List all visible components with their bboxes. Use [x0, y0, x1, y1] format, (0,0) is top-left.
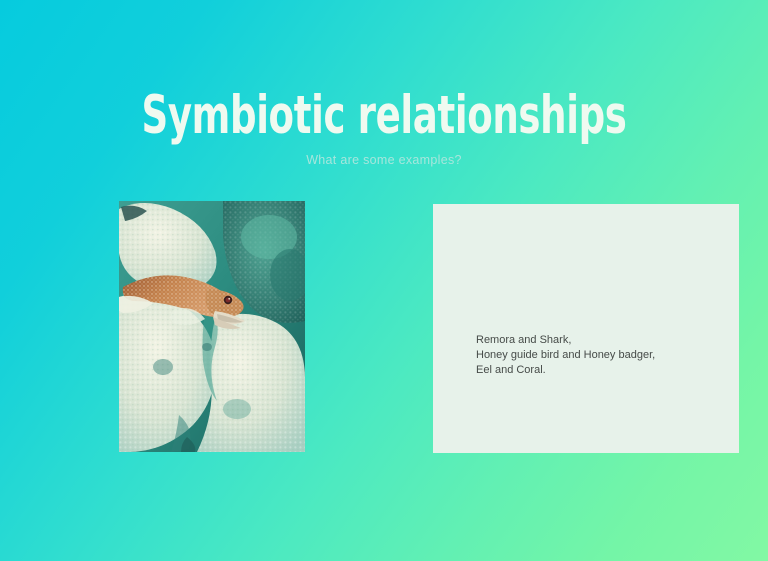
presentation-slide: Symbiotic relationships What are some ex… — [0, 0, 768, 561]
moray-eel-in-coral-photo — [119, 201, 305, 452]
page-title: Symbiotic relationships — [115, 88, 653, 144]
content-card: Remora and Shark, Honey guide bird and H… — [433, 204, 739, 453]
card-body-text: Remora and Shark, Honey guide bird and H… — [476, 333, 655, 379]
title-block: Symbiotic relationships What are some ex… — [0, 88, 768, 168]
slide-subtitle: What are some examples? — [0, 152, 768, 168]
coral-reef-illustration — [119, 201, 305, 452]
